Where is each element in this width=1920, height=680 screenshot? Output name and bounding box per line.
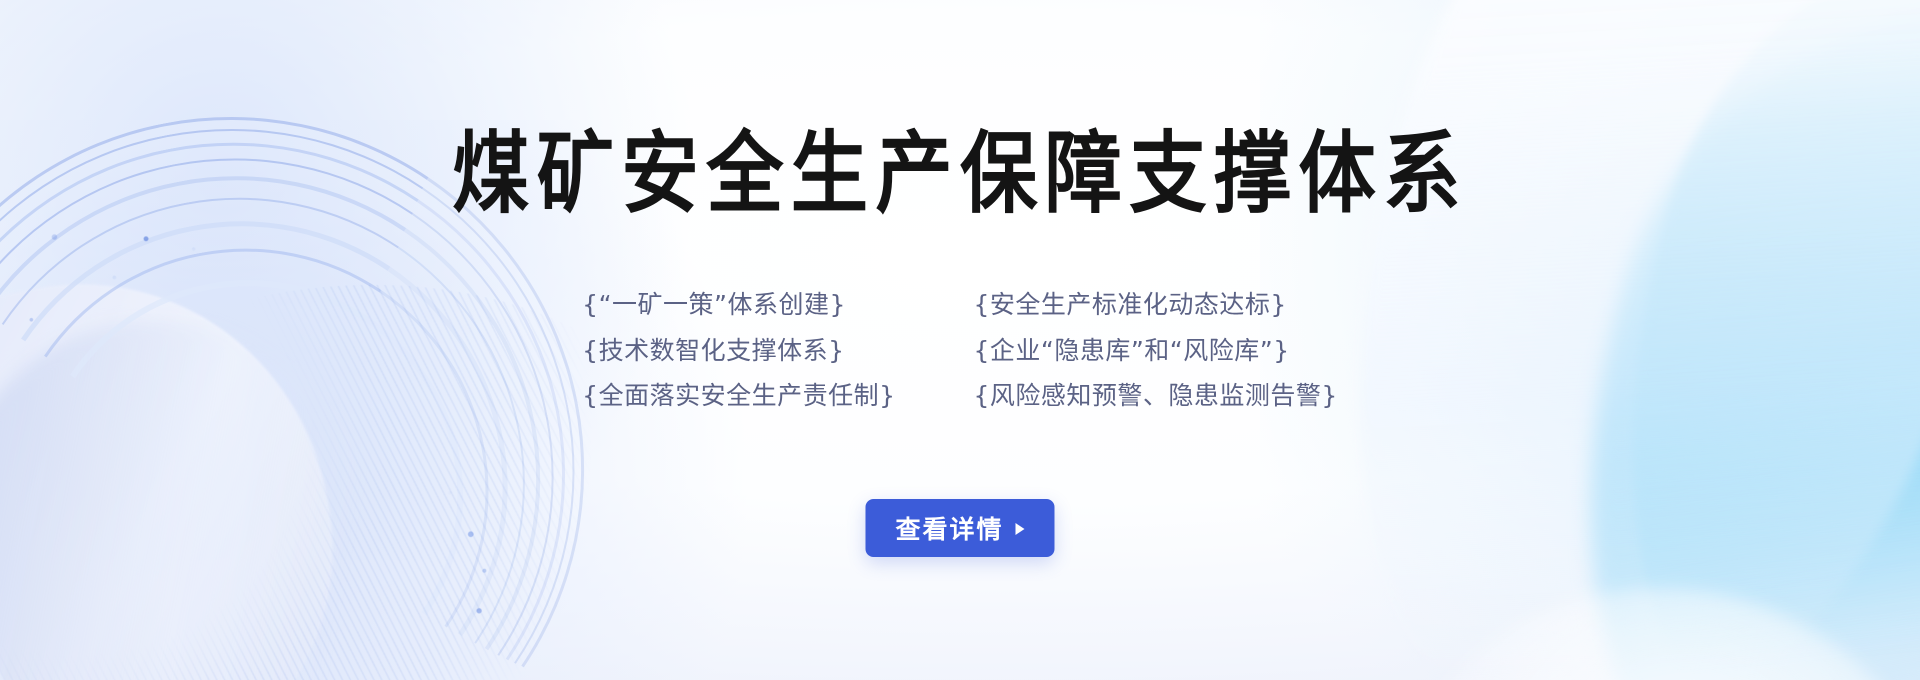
page-title: 煤矿安全生产保障支撑体系 (408, 132, 1512, 216)
cta-container: 查看详情 (865, 499, 1054, 557)
play-triangle-icon (1016, 523, 1025, 535)
hero-banner: 煤矿安全生产保障支撑体系 {“一矿一策”体系创建} {技术数智化支撑体系} {全… (0, 0, 1920, 680)
subtitle-item: {“一矿一策”体系创建} (582, 288, 846, 323)
subtitle-column-right: {安全生产标准化动态达标} {企业“隐患库”和“风险库”} {风险感知预警、隐患… (974, 288, 1338, 414)
banner-content: 煤矿安全生产保障支撑体系 {“一矿一策”体系创建} {技术数智化支撑体系} {全… (0, 0, 1920, 680)
subtitle-item: {技术数智化支撑体系} (582, 334, 844, 369)
page-title-text: 煤矿安全生产保障支撑体系 (452, 129, 1468, 218)
subtitle-item: {风险感知预警、隐患监测告警} (974, 379, 1338, 414)
subtitle-grid: {“一矿一策”体系创建} {技术数智化支撑体系} {全面落实安全生产责任制} {… (582, 288, 1338, 414)
view-details-button[interactable]: 查看详情 (865, 499, 1054, 557)
subtitle-item: {安全生产标准化动态达标} (974, 288, 1287, 323)
subtitle-item: {企业“隐患库”和“风险库”} (974, 334, 1290, 369)
subtitle-column-left: {“一矿一策”体系创建} {技术数智化支撑体系} {全面落实安全生产责任制} (582, 288, 895, 414)
subtitle-item: {全面落实安全生产责任制} (582, 379, 895, 414)
view-details-label: 查看详情 (895, 510, 1003, 546)
